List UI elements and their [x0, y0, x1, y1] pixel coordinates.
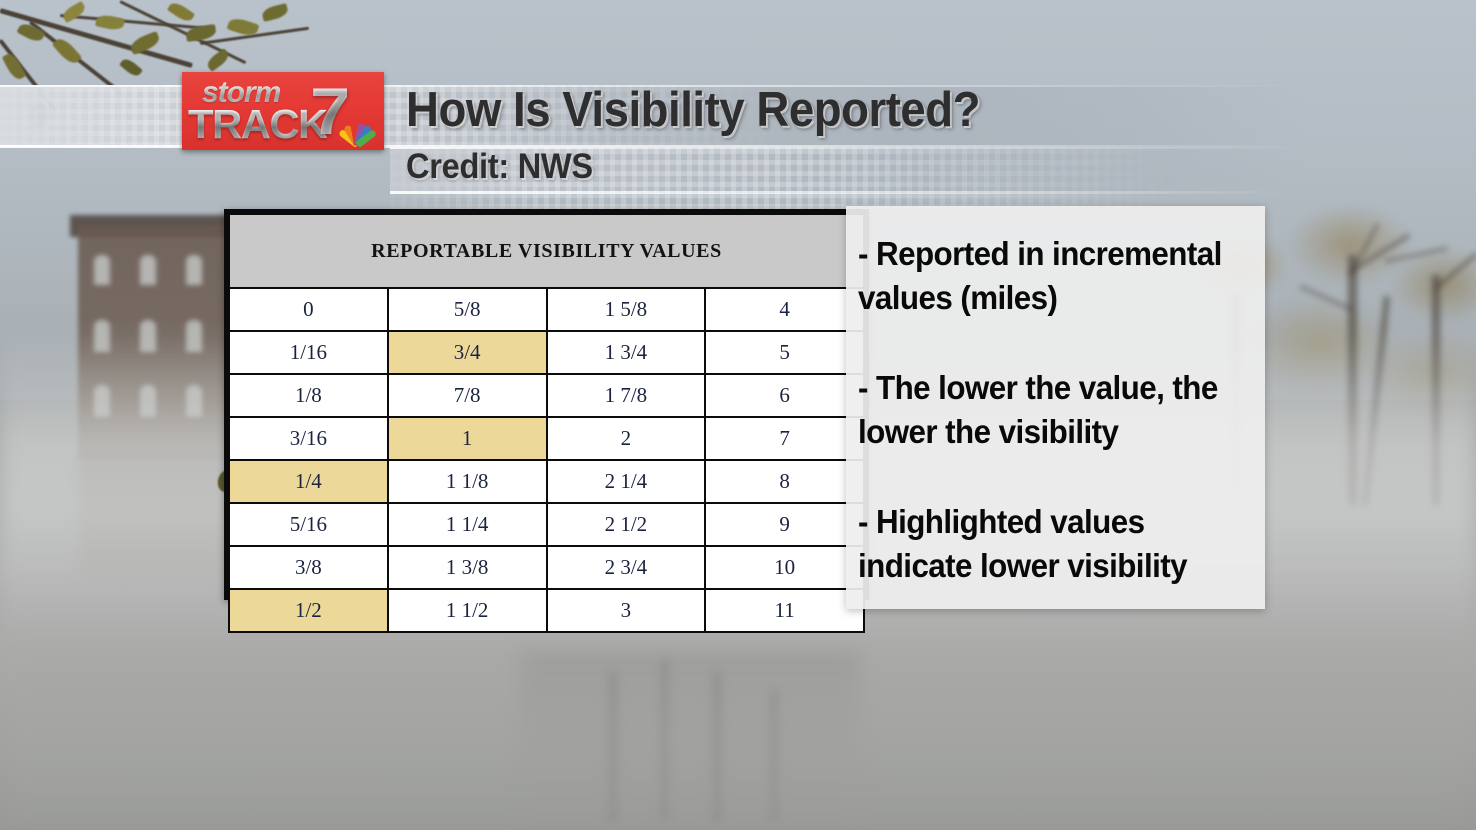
low-fog-layer — [0, 600, 1476, 830]
table-row: 5/161 1/42 1/29 — [229, 503, 864, 546]
table-cell: 1 1/8 — [388, 460, 547, 503]
storm-track-7-logo: storm TRACK 7 — [182, 72, 384, 150]
table-cell: 3/16 — [229, 417, 388, 460]
table-row: 05/81 5/84 — [229, 288, 864, 331]
info-panel: - Reported in incremental values (miles)… — [846, 206, 1265, 609]
table-row: 3/16127 — [229, 417, 864, 460]
table-cell: 3/8 — [229, 546, 388, 589]
table-row: 3/81 3/82 3/410 — [229, 546, 864, 589]
table-cell-highlighted: 3/4 — [388, 331, 547, 374]
table-row: 1/163/41 3/45 — [229, 331, 864, 374]
table-cell: 5 — [705, 331, 864, 374]
page-title: How Is Visibility Reported? — [406, 82, 980, 138]
table-cell: 2 1/4 — [547, 460, 706, 503]
table-cell: 3 — [547, 589, 706, 632]
broadcast-graphic-stage: How Is Visibility Reported? Credit: NWS … — [0, 0, 1476, 830]
table-cell: 11 — [705, 589, 864, 632]
table-cell-highlighted: 1 — [388, 417, 547, 460]
table-cell: 4 — [705, 288, 864, 331]
table-header-row: REPORTABLE VISIBILITY VALUES — [229, 214, 864, 288]
table-cell: 2 1/2 — [547, 503, 706, 546]
table-cell: 6 — [705, 374, 864, 417]
logo-track-text: TRACK — [188, 101, 327, 148]
table-cell: 2 — [547, 417, 706, 460]
table-cell: 2 3/4 — [547, 546, 706, 589]
table-cell: 1 1/4 — [388, 503, 547, 546]
info-bullet: - The lower the value, the lower the vis… — [858, 366, 1245, 454]
table-cell: 1/8 — [229, 374, 388, 417]
table-cell: 10 — [705, 546, 864, 589]
table-cell: 1 5/8 — [547, 288, 706, 331]
table-cell: 1 7/8 — [547, 374, 706, 417]
table-cell: 0 — [229, 288, 388, 331]
reportable-visibility-table: REPORTABLE VISIBILITY VALUES 05/81 5/841… — [224, 209, 869, 600]
table-row: 1/21 1/2311 — [229, 589, 864, 632]
table-body: 05/81 5/841/163/41 3/451/87/81 7/863/161… — [229, 288, 864, 632]
table-title: REPORTABLE VISIBILITY VALUES — [229, 214, 864, 288]
table-cell-highlighted: 1/4 — [229, 460, 388, 503]
table-cell-highlighted: 1/2 — [229, 589, 388, 632]
table-row: 1/87/81 7/86 — [229, 374, 864, 417]
table-cell: 1 1/2 — [388, 589, 547, 632]
info-bullet: - Highlighted values indicate lower visi… — [858, 500, 1245, 588]
table-cell: 7/8 — [388, 374, 547, 417]
table-cell: 1/16 — [229, 331, 388, 374]
table-cell: 1 3/8 — [388, 546, 547, 589]
table-cell: 5/8 — [388, 288, 547, 331]
credit-label: Credit: NWS — [406, 147, 593, 187]
table-cell: 7 — [705, 417, 864, 460]
info-bullet: - Reported in incremental values (miles) — [858, 232, 1245, 320]
nbc-peacock-icon — [334, 116, 378, 146]
table-cell: 8 — [705, 460, 864, 503]
table-row: 1/41 1/82 1/48 — [229, 460, 864, 503]
table-cell: 5/16 — [229, 503, 388, 546]
table-cell: 9 — [705, 503, 864, 546]
table-cell: 1 3/4 — [547, 331, 706, 374]
